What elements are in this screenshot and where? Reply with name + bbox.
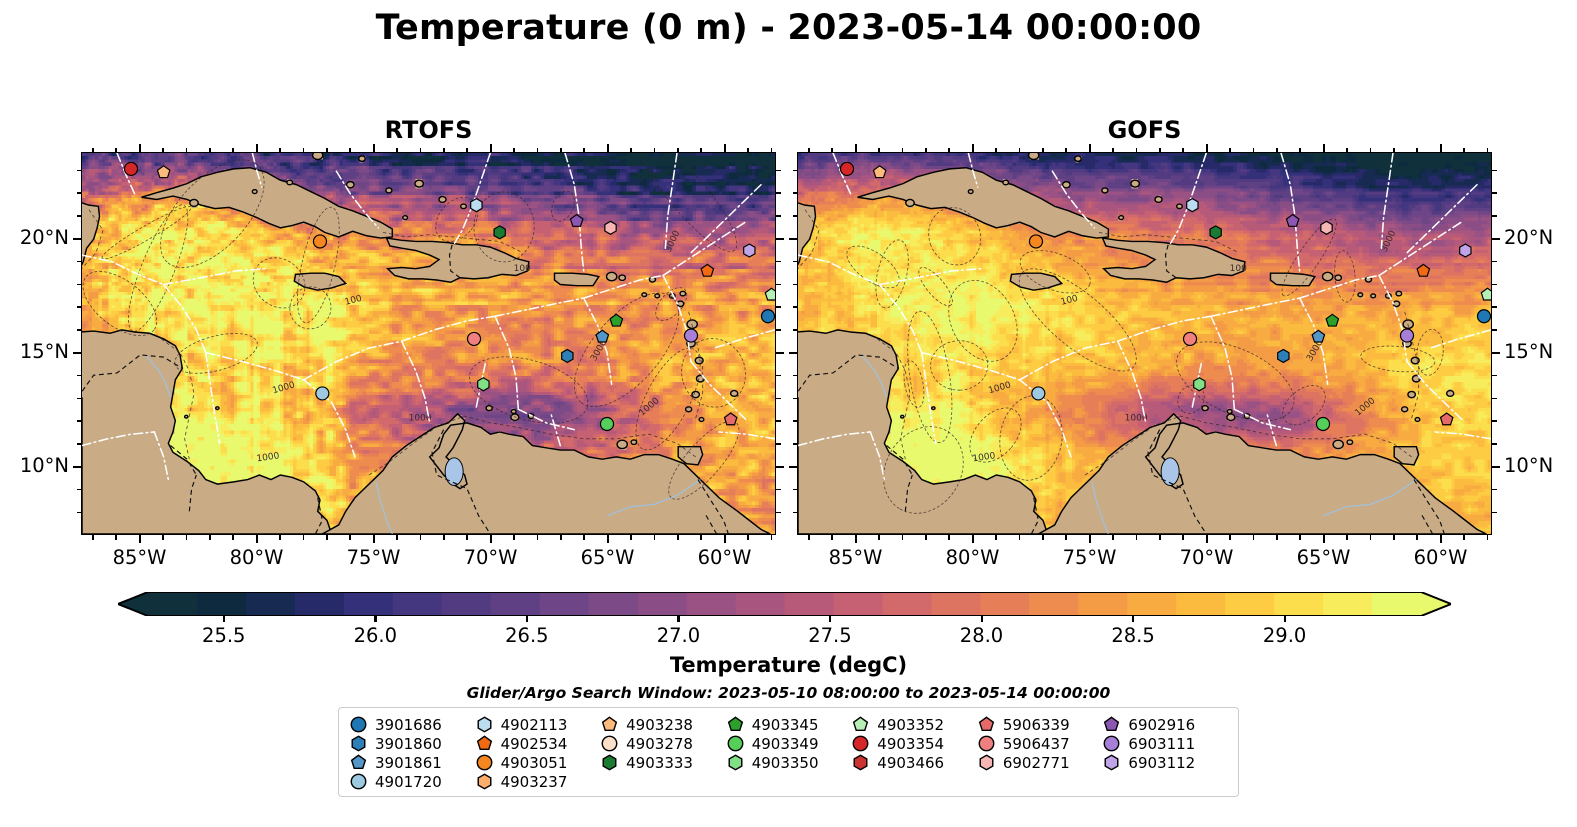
axis-tick <box>77 170 82 172</box>
legend-label-4902534: 4902534 <box>501 735 568 753</box>
axis-tick <box>776 489 781 491</box>
legend-item-4903354[interactable]: 4903354 <box>851 734 977 753</box>
legend-label-4902113: 4902113 <box>501 716 568 734</box>
axis-tick <box>77 284 82 286</box>
legend-symbol-5906339 <box>977 715 996 734</box>
axis-tick <box>925 535 927 540</box>
legend-symbol-4903349 <box>726 734 745 753</box>
axis-tick <box>1182 535 1184 540</box>
legend-symbol-3901861 <box>349 753 368 772</box>
axis-tick <box>443 535 445 540</box>
axis-tick <box>1253 535 1255 540</box>
axis-tick <box>995 535 997 540</box>
legend-item-4903352[interactable]: 4903352 <box>851 715 977 734</box>
legend-label-4903350: 4903350 <box>752 754 819 772</box>
axis-tick <box>1440 535 1442 543</box>
map-panel-rtofs[interactable]: 100010003000100300010010001000 <box>81 152 776 535</box>
axis-tick <box>73 352 81 354</box>
xtick-label-0-1: 80°W <box>211 546 303 569</box>
axis-tick <box>1182 148 1184 153</box>
axis-tick <box>902 535 904 540</box>
axis-tick <box>1042 535 1044 540</box>
colorbar-tick-label-1: 26.0 <box>330 624 420 647</box>
axis-tick <box>630 535 632 540</box>
sst-field-rtofs: 100010003000100300010010001000 <box>82 153 775 534</box>
axis-tick <box>232 148 234 153</box>
xtick-label-0-4: 65°W <box>562 546 654 569</box>
axis-tick <box>396 535 398 540</box>
axis-tick <box>1492 398 1497 400</box>
axis-tick <box>256 144 258 152</box>
axis-tick <box>303 148 305 153</box>
xtick-label-0-5: 60°W <box>679 546 771 569</box>
legend-item-4903238[interactable]: 4903238 <box>600 715 726 734</box>
axis-tick <box>607 144 609 152</box>
xtick-label-0-2: 75°W <box>328 546 420 569</box>
axis-tick <box>808 535 810 540</box>
axis-tick <box>793 420 798 422</box>
legend-label-4903237: 4903237 <box>501 773 568 791</box>
sst-field-gofs: 100010003000100300010010001000 <box>798 153 1491 534</box>
axis-tick <box>1370 148 1372 153</box>
colorbar-tick-label-0: 25.5 <box>179 624 269 647</box>
axis-tick <box>583 535 585 540</box>
legend-item-4903466[interactable]: 4903466 <box>851 753 977 772</box>
axis-tick <box>808 148 810 153</box>
axis-tick <box>1463 148 1465 153</box>
colorbar-tick <box>981 616 983 622</box>
axis-tick <box>256 535 258 543</box>
axis-tick <box>1206 535 1208 543</box>
axis-tick <box>77 329 82 331</box>
legend-symbol-4903345 <box>726 715 745 734</box>
axis-tick <box>902 148 904 153</box>
legend-label-6902771: 6902771 <box>1003 754 1070 772</box>
axis-tick <box>1159 535 1161 540</box>
axis-tick <box>1229 535 1231 540</box>
axis-tick <box>560 535 562 540</box>
axis-tick <box>73 466 81 468</box>
legend-symbol-6903111 <box>1102 734 1121 753</box>
legend-label-4903238: 4903238 <box>626 716 693 734</box>
legend-item-5906339[interactable]: 5906339 <box>977 715 1103 734</box>
axis-tick <box>972 535 974 543</box>
lake-maracaibo <box>445 458 463 486</box>
legend-item-6902771[interactable]: 6902771 <box>977 753 1103 772</box>
axis-tick <box>1065 148 1067 153</box>
axis-tick <box>420 148 422 153</box>
xtick-label-1-3: 70°W <box>1161 546 1253 569</box>
axis-tick <box>1492 352 1500 354</box>
axis-tick <box>793 284 798 286</box>
axis-tick <box>1042 148 1044 153</box>
axis-tick <box>793 489 798 491</box>
legend-label-3901861: 3901861 <box>375 754 442 772</box>
axis-tick <box>349 535 351 540</box>
float-legend: 3901686490211349032384903345490335259063… <box>338 707 1239 797</box>
panel-title-gofs: GOFS <box>797 116 1492 144</box>
axis-tick <box>831 535 833 540</box>
axis-tick <box>583 148 585 153</box>
axis-tick <box>1276 535 1278 540</box>
axis-tick <box>1346 148 1348 153</box>
axis-tick <box>1206 144 1208 152</box>
axis-tick <box>776 466 784 468</box>
axis-tick <box>77 489 82 491</box>
axis-tick <box>349 148 351 153</box>
axis-tick <box>92 148 94 153</box>
axis-tick <box>831 148 833 153</box>
axis-tick <box>373 144 375 152</box>
colorbar-gradient <box>118 592 1451 616</box>
axis-tick <box>776 443 781 445</box>
legend-item-4903333[interactable]: 4903333 <box>600 753 726 772</box>
legend-symbol-4903237 <box>475 772 494 791</box>
axis-tick <box>1492 420 1497 422</box>
legend-symbol-4903466 <box>851 753 870 772</box>
axis-tick <box>724 535 726 543</box>
axis-tick <box>771 535 773 540</box>
axis-tick <box>537 148 539 153</box>
axis-tick <box>776 512 781 514</box>
axis-tick <box>1299 535 1301 540</box>
legend-item-4903345[interactable]: 4903345 <box>726 715 852 734</box>
axis-tick <box>1492 489 1497 491</box>
legend-label-5906437: 5906437 <box>1003 735 1070 753</box>
axis-tick <box>776 170 781 172</box>
axis-tick <box>747 148 749 153</box>
axis-tick <box>209 535 211 540</box>
axis-tick <box>776 261 781 263</box>
axis-tick <box>77 398 82 400</box>
legend-symbol-4903333 <box>600 753 619 772</box>
colorbar-tick <box>1284 616 1286 622</box>
axis-tick <box>513 148 515 153</box>
axis-tick <box>700 535 702 540</box>
axis-tick <box>77 261 82 263</box>
legend-label-4903349: 4903349 <box>752 735 819 753</box>
axis-tick <box>855 144 857 152</box>
axis-tick <box>776 284 781 286</box>
legend-label-4903278: 4903278 <box>626 735 693 753</box>
axis-tick <box>1492 375 1497 377</box>
axis-tick <box>793 375 798 377</box>
colorbar-tick <box>1132 616 1134 622</box>
axis-tick <box>77 512 82 514</box>
legend-label-5906339: 5906339 <box>1003 716 1070 734</box>
axis-tick <box>776 238 784 240</box>
legend-symbol-4903051 <box>475 753 494 772</box>
ytick-label-left-1: 15°N <box>0 340 69 363</box>
ytick-label-right-1: 15°N <box>1504 340 1553 363</box>
axis-tick <box>776 352 784 354</box>
colorbar-tick-label-6: 28.5 <box>1088 624 1178 647</box>
legend-item-4903278[interactable]: 4903278 <box>600 734 726 753</box>
axis-tick <box>326 148 328 153</box>
axis-tick <box>1019 148 1021 153</box>
axis-tick <box>1463 535 1465 540</box>
axis-tick <box>77 375 82 377</box>
legend-symbol-6902771 <box>977 753 996 772</box>
legend-item-3901860[interactable]: 3901860 <box>349 734 475 753</box>
colorbar-tick-label-5: 28.0 <box>937 624 1027 647</box>
axis-tick <box>115 535 117 540</box>
axis-tick <box>793 512 798 514</box>
axis-tick <box>77 420 82 422</box>
colorbar-tick <box>526 616 528 622</box>
legend-label-4903352: 4903352 <box>877 716 944 734</box>
colorbar-label: Temperature (degC) <box>0 653 1577 677</box>
axis-tick <box>1492 238 1500 240</box>
axis-tick <box>1492 512 1497 514</box>
axis-tick <box>1416 535 1418 540</box>
axis-tick <box>948 148 950 153</box>
ytick-label-left-2: 20°N <box>0 226 69 249</box>
legend-item-6903111[interactable]: 6903111 <box>1102 734 1228 753</box>
axis-tick <box>789 352 797 354</box>
axis-tick <box>995 148 997 153</box>
legend-item-4903349[interactable]: 4903349 <box>726 734 852 753</box>
axis-tick <box>1299 148 1301 153</box>
legend-label-4903466: 4903466 <box>877 754 944 772</box>
xtick-label-1-4: 65°W <box>1278 546 1370 569</box>
axis-tick <box>1440 144 1442 152</box>
legend-item-3901861[interactable]: 3901861 <box>349 753 475 772</box>
legend-label-4903333: 4903333 <box>626 754 693 772</box>
legend-symbol-4902113 <box>475 715 494 734</box>
axis-tick <box>1112 535 1114 540</box>
axis-tick <box>948 535 950 540</box>
axis-tick <box>1492 192 1497 194</box>
axis-tick <box>878 148 880 153</box>
axis-tick <box>793 306 798 308</box>
axis-tick <box>186 148 188 153</box>
legend-label-4903354: 4903354 <box>877 735 944 753</box>
axis-tick <box>466 148 468 153</box>
axis-tick <box>373 535 375 543</box>
axis-tick <box>1487 148 1489 153</box>
axis-tick <box>490 144 492 152</box>
xtick-label-0-0: 85°W <box>94 546 186 569</box>
xtick-label-1-1: 80°W <box>927 546 1019 569</box>
axis-tick <box>1492 215 1497 217</box>
axis-tick <box>1492 261 1497 263</box>
legend-label-4903051: 4903051 <box>501 754 568 772</box>
axis-tick <box>771 148 773 153</box>
axis-tick <box>303 535 305 540</box>
colorbar-tick <box>829 616 831 622</box>
xtick-label-0-3: 70°W <box>445 546 537 569</box>
axis-tick <box>1492 306 1497 308</box>
axis-tick <box>1492 170 1497 172</box>
axis-tick <box>326 535 328 540</box>
legend-item-4901720[interactable]: 4901720 <box>349 772 475 791</box>
axis-tick <box>747 535 749 540</box>
axis-tick <box>1136 535 1138 540</box>
axis-tick <box>793 192 798 194</box>
axis-tick <box>1323 144 1325 152</box>
axis-tick <box>1089 535 1091 543</box>
axis-tick <box>1492 284 1497 286</box>
legend-symbol-4903278 <box>600 734 619 753</box>
legend-item-5906437[interactable]: 5906437 <box>977 734 1103 753</box>
colorbar-tick-label-2: 26.5 <box>482 624 572 647</box>
axis-tick <box>537 535 539 540</box>
legend-symbol-4903238 <box>600 715 619 734</box>
ytick-label-right-2: 20°N <box>1504 226 1553 249</box>
ytick-label-right-0: 10°N <box>1504 454 1553 477</box>
axis-tick <box>77 192 82 194</box>
axis-tick <box>1370 535 1372 540</box>
colorbar-tick <box>374 616 376 622</box>
colorbar-tick-label-3: 27.0 <box>633 624 723 647</box>
legend-symbol-4901720 <box>349 772 368 791</box>
axis-tick <box>925 148 927 153</box>
legend-item-6902916[interactable]: 6902916 <box>1102 715 1228 734</box>
axis-tick <box>279 535 281 540</box>
axis-tick <box>490 535 492 543</box>
axis-tick <box>1487 535 1489 540</box>
axis-tick <box>776 192 781 194</box>
axis-tick <box>878 535 880 540</box>
legend-symbol-3901686 <box>349 715 368 734</box>
axis-tick <box>776 215 781 217</box>
legend-symbol-6902916 <box>1102 715 1121 734</box>
legend-label-3901686: 3901686 <box>375 716 442 734</box>
page-title: Temperature (0 m) - 2023-05-14 00:00:00 <box>0 8 1577 48</box>
axis-tick <box>793 215 798 217</box>
axis-tick <box>115 148 117 153</box>
axis-tick <box>776 398 781 400</box>
axis-tick <box>793 443 798 445</box>
legend-symbol-4903352 <box>851 715 870 734</box>
legend-item-4902113[interactable]: 4902113 <box>475 715 601 734</box>
axis-tick <box>443 148 445 153</box>
legend-symbol-5906437 <box>977 734 996 753</box>
xtick-label-1-5: 60°W <box>1395 546 1487 569</box>
legend-label-6903111: 6903111 <box>1128 735 1195 753</box>
axis-tick <box>724 144 726 152</box>
panel-title-rtofs: RTOFS <box>81 116 776 144</box>
legend-label-4903345: 4903345 <box>752 716 819 734</box>
axis-tick <box>793 261 798 263</box>
axis-tick <box>232 535 234 540</box>
axis-tick <box>1393 535 1395 540</box>
xtick-label-1-2: 75°W <box>1044 546 1136 569</box>
axis-tick <box>560 148 562 153</box>
axis-tick <box>776 420 781 422</box>
axis-tick <box>1416 148 1418 153</box>
axis-tick <box>1492 466 1500 468</box>
axis-tick <box>972 144 974 152</box>
legend-symbol-3901860 <box>349 734 368 753</box>
axis-tick <box>77 215 82 217</box>
axis-tick <box>776 329 781 331</box>
axis-tick <box>1323 535 1325 543</box>
legend-label-3901860: 3901860 <box>375 735 442 753</box>
axis-tick <box>789 466 797 468</box>
axis-tick <box>396 148 398 153</box>
legend-symbol-4903350 <box>726 753 745 772</box>
colorbar-tick <box>223 616 225 622</box>
axis-tick <box>700 148 702 153</box>
colorbar-tick-label-4: 27.5 <box>785 624 875 647</box>
lake-maracaibo <box>1161 458 1179 486</box>
colorbar-tick-label-7: 29.0 <box>1240 624 1330 647</box>
legend-symbol-4902534 <box>475 734 494 753</box>
axis-tick <box>1276 148 1278 153</box>
legend-item-4902534[interactable]: 4902534 <box>475 734 601 753</box>
legend-label-6903112: 6903112 <box>1128 754 1195 772</box>
axis-tick <box>1159 148 1161 153</box>
axis-tick <box>73 238 81 240</box>
axis-tick <box>776 375 781 377</box>
axis-tick <box>1393 148 1395 153</box>
axis-tick <box>776 306 781 308</box>
axis-tick <box>1089 144 1091 152</box>
axis-tick <box>607 535 609 543</box>
axis-tick <box>466 535 468 540</box>
axis-tick <box>92 535 94 540</box>
axis-tick <box>654 535 656 540</box>
map-panel-gofs[interactable]: 100010003000100300010010001000 <box>797 152 1492 535</box>
axis-tick <box>855 535 857 543</box>
legend-item-4903237[interactable]: 4903237 <box>475 772 601 791</box>
axis-tick <box>654 148 656 153</box>
axis-tick <box>139 144 141 152</box>
axis-tick <box>1492 443 1497 445</box>
axis-tick <box>420 535 422 540</box>
colorbar-tick <box>677 616 679 622</box>
legend-item-4903051[interactable]: 4903051 <box>475 753 601 772</box>
search-window-subtitle: Glider/Argo Search Window: 2023-05-10 08… <box>0 684 1577 702</box>
legend-symbol-4903354 <box>851 734 870 753</box>
axis-tick <box>139 535 141 543</box>
legend-item-3901686[interactable]: 3901686 <box>349 715 475 734</box>
axis-tick <box>677 535 679 540</box>
axis-tick <box>793 170 798 172</box>
axis-tick <box>1112 148 1114 153</box>
legend-label-6902916: 6902916 <box>1128 716 1195 734</box>
legend-item-6903112[interactable]: 6903112 <box>1102 753 1228 772</box>
xtick-label-1-0: 85°W <box>810 546 902 569</box>
axis-tick <box>1229 148 1231 153</box>
axis-tick <box>677 148 679 153</box>
axis-tick <box>1136 148 1138 153</box>
legend-label-4901720: 4901720 <box>375 773 442 791</box>
legend-item-4903350[interactable]: 4903350 <box>726 753 852 772</box>
axis-tick <box>793 329 798 331</box>
ytick-label-left-0: 10°N <box>0 454 69 477</box>
axis-tick <box>1346 535 1348 540</box>
axis-tick <box>279 148 281 153</box>
axis-tick <box>789 238 797 240</box>
axis-tick <box>209 148 211 153</box>
axis-tick <box>77 443 82 445</box>
axis-tick <box>162 148 164 153</box>
axis-tick <box>793 398 798 400</box>
axis-tick <box>1253 148 1255 153</box>
legend-symbol-6903112 <box>1102 753 1121 772</box>
axis-tick <box>630 148 632 153</box>
colorbar <box>118 592 1451 616</box>
axis-tick <box>1492 329 1497 331</box>
axis-tick <box>513 535 515 540</box>
axis-tick <box>77 306 82 308</box>
axis-tick <box>162 535 164 540</box>
axis-tick <box>1019 535 1021 540</box>
axis-tick <box>1065 535 1067 540</box>
